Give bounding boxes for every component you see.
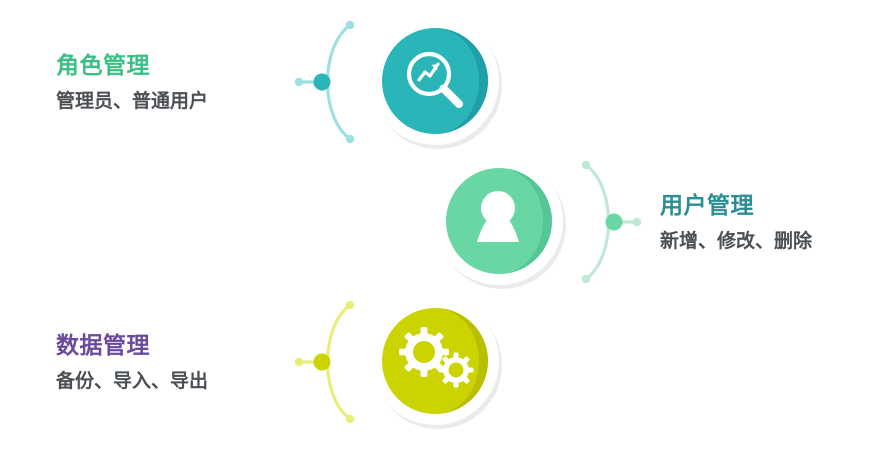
- feature-medallion[interactable]: [430, 152, 570, 292]
- arc-path: [328, 25, 351, 139]
- feature-user-management[interactable]: 用户管理 新增、修改、删除: [430, 152, 876, 292]
- feature-medallion[interactable]: [366, 292, 506, 432]
- feature-subtitle: 管理员、普通用户: [56, 90, 208, 114]
- arc-end-dot-bottom: [582, 275, 590, 283]
- feature-text-block: 角色管理 管理员、普通用户: [0, 51, 290, 114]
- feature-title: 角色管理: [56, 51, 150, 80]
- feature-medallion[interactable]: [366, 12, 506, 152]
- arc-path: [328, 305, 351, 419]
- connector-arc-left: [290, 297, 366, 427]
- arc-end-dot-top: [582, 161, 590, 169]
- connector-arc-left: [290, 17, 366, 147]
- connector-hub-dot: [314, 354, 331, 371]
- feature-role-management[interactable]: 角色管理 管理员、普通用户: [0, 12, 520, 152]
- connector-arc-right: [570, 157, 646, 287]
- feature-data-management[interactable]: 数据管理 备份、导入、导出: [0, 292, 520, 432]
- feature-subtitle: 新增、修改、删除: [660, 230, 812, 254]
- connector-hub-dot: [606, 214, 623, 231]
- connector-tip-dot: [633, 218, 641, 226]
- feature-title: 用户管理: [660, 191, 754, 220]
- feature-text-block: 数据管理 备份、导入、导出: [0, 331, 290, 394]
- arc-end-dot-top: [346, 301, 354, 309]
- arc-end-dot-bottom: [346, 135, 354, 143]
- connector-hub-dot: [314, 74, 331, 91]
- feature-text-block: 用户管理 新增、修改、删除: [646, 191, 876, 254]
- features-infographic: 角色管理 管理员、普通用户: [0, 0, 876, 475]
- arc-path: [586, 165, 609, 279]
- feature-subtitle: 备份、导入、导出: [56, 370, 208, 394]
- arc-end-dot-top: [346, 21, 354, 29]
- feature-title: 数据管理: [56, 331, 150, 360]
- connector-tip-dot: [295, 358, 303, 366]
- connector-tip-dot: [295, 78, 303, 86]
- arc-end-dot-bottom: [346, 415, 354, 423]
